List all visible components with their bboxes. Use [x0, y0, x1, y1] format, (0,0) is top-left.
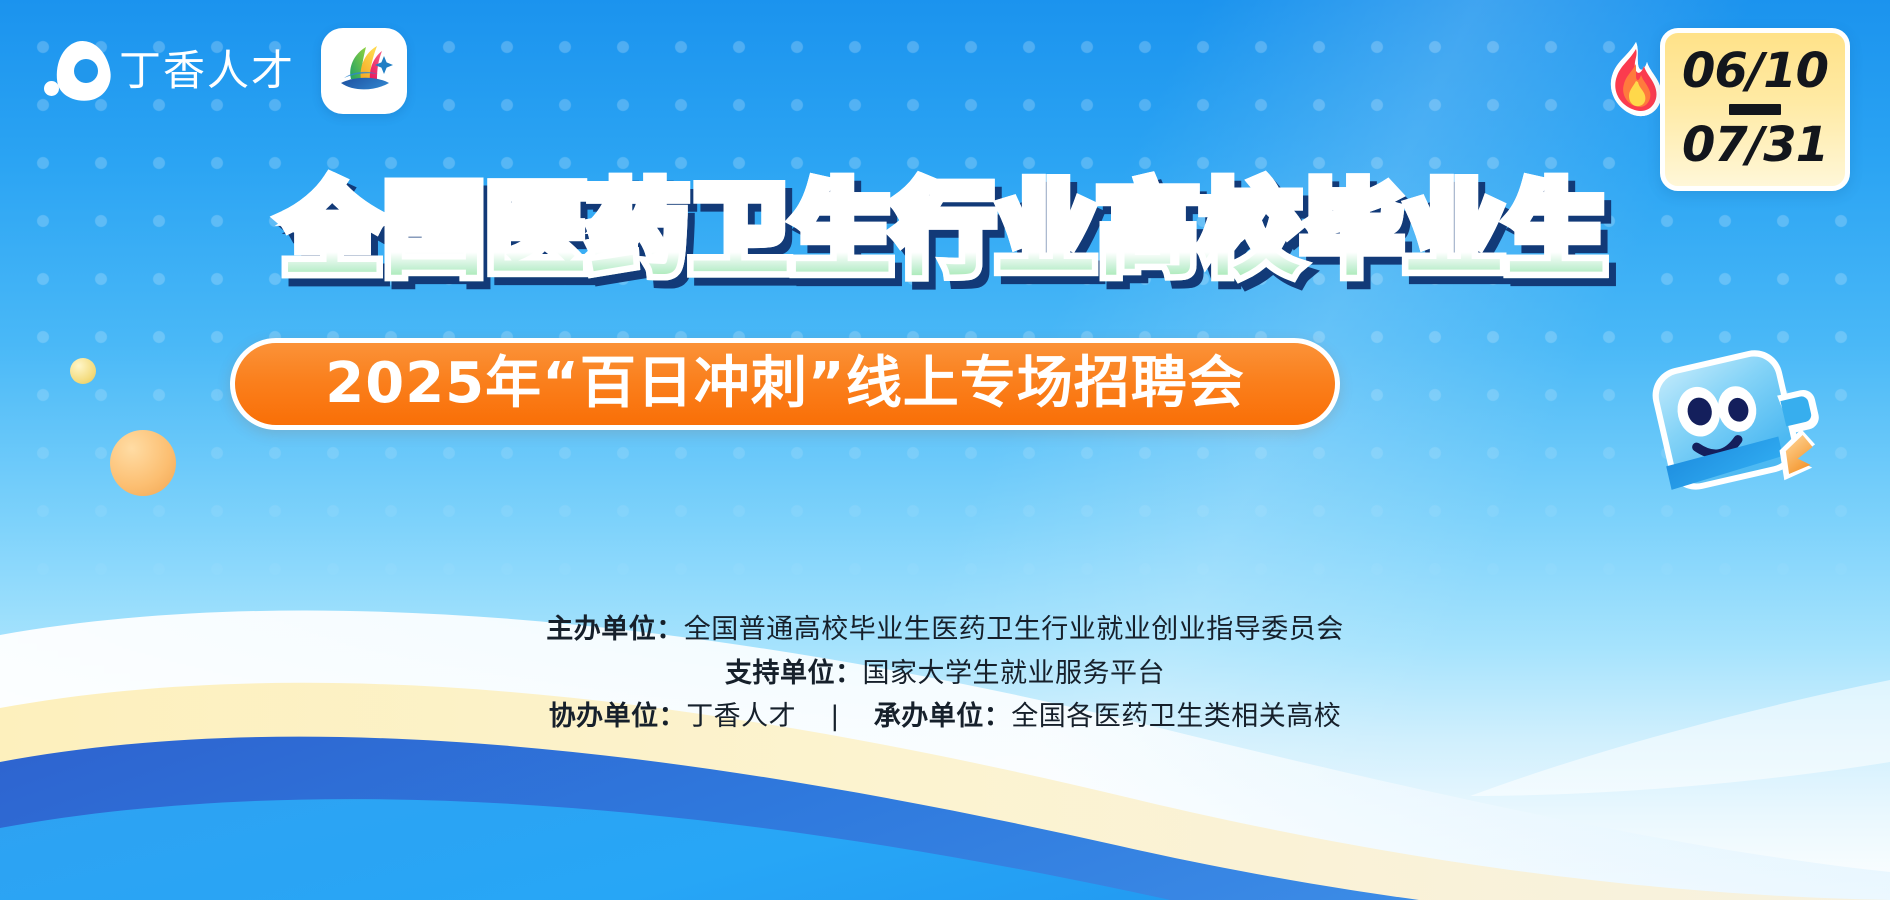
banner-root: 丁香人才 — [0, 0, 1890, 900]
credit-line-organizer: 主办单位：全国普通高校毕业生医药卫生行业就业创业指导委员会 — [0, 608, 1890, 652]
date-separator — [1729, 104, 1781, 115]
credit-line-supporter: 支持单位：国家大学生就业服务平台 — [0, 652, 1890, 696]
main-title: 全国医药卫生行业高校毕业生 全国医药卫生行业高校毕业生 全国医药卫生行业高校毕业… — [0, 178, 1890, 284]
subtitle-banner: 2025年“百日冲刺”线上专场招聘会 — [230, 338, 1340, 430]
credits-block: 主办单位：全国普通高校毕业生医药卫生行业就业创业指导委员会 支持单位：国家大学生… — [0, 608, 1890, 739]
national-employment-platform-app-icon[interactable] — [321, 28, 407, 114]
decorative-sphere-small — [70, 358, 96, 384]
credit-line-coorganizer: 协办单位：丁香人才|承办单位：全国各医药卫生类相关高校 — [0, 695, 1890, 739]
date-end: 07/31 — [1665, 121, 1845, 170]
date-start: 06/10 — [1665, 47, 1845, 96]
dingxiang-logo[interactable]: 丁香人才 — [44, 41, 295, 101]
supporter-label: 支持单位： — [725, 658, 863, 689]
date-card: 06/10 07/31 — [1660, 28, 1850, 191]
light-sheen-overlay — [0, 0, 1890, 900]
title-gradient-layer: 全国医药卫生行业高校毕业生 — [282, 178, 1608, 284]
host-label: 承办单位： — [874, 701, 1012, 732]
subtitle-text: 2025年“百日冲刺”线上专场招聘会 — [325, 356, 1244, 412]
header-logos: 丁香人才 — [44, 28, 407, 114]
coorganizer-label: 协办单位： — [549, 701, 687, 732]
dingxiang-leaf-logo-icon — [44, 41, 110, 101]
organizer-label: 主办单位： — [546, 614, 684, 645]
organizer-value: 全国普通高校毕业生医药卫生行业就业创业指导委员会 — [684, 614, 1344, 645]
coorganizer-value: 丁香人才 — [686, 701, 796, 732]
supporter-value: 国家大学生就业服务平台 — [863, 658, 1166, 689]
date-badge: 06/10 07/31 — [1660, 28, 1850, 191]
decorative-sphere-large — [110, 430, 176, 496]
brand-name: 丁香人才 — [119, 50, 295, 92]
blue-square-mascot — [1634, 330, 1854, 530]
host-value: 全国各医药卫生类相关高校 — [1011, 701, 1341, 732]
credit-divider: | — [796, 695, 874, 739]
